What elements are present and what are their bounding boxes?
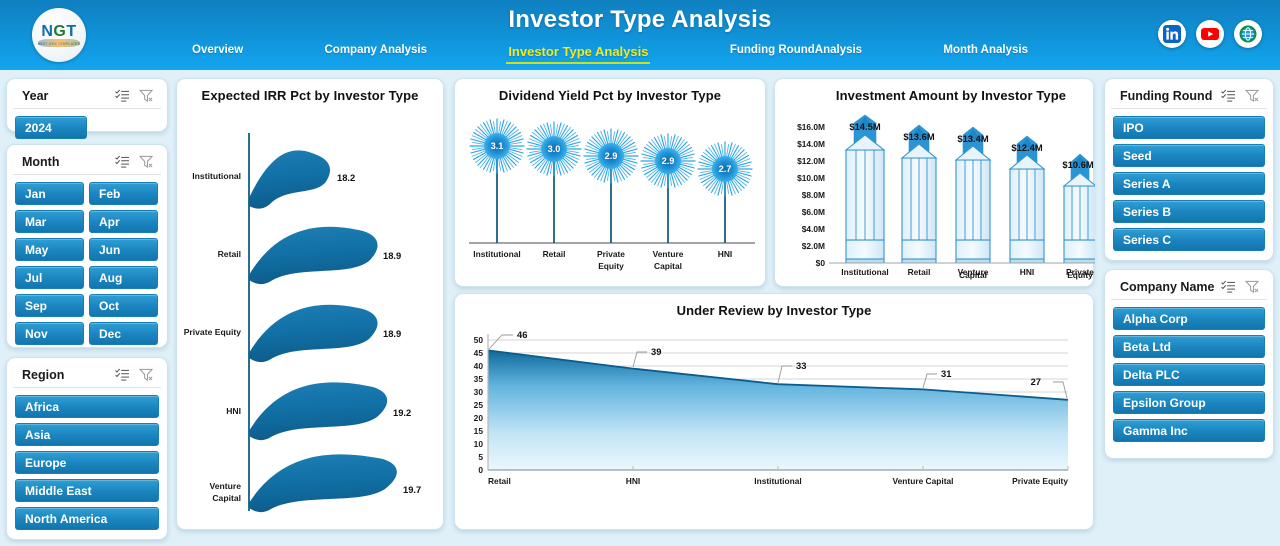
dividend-burst-marker: 3.1 bbox=[470, 119, 524, 173]
irr-value-label: 19.2 bbox=[393, 407, 411, 418]
slicer-item-month-jun[interactable]: Jun bbox=[89, 238, 158, 261]
dividend-burst-marker: 2.7 bbox=[698, 142, 752, 196]
slicer-item-year-2024[interactable]: 2024 bbox=[15, 116, 87, 139]
investment-pencil-bar bbox=[902, 125, 936, 263]
slicer-funding-round: Funding Round IPO Seed Series A Series B… bbox=[1104, 78, 1274, 261]
clear-filter-icon[interactable] bbox=[1245, 280, 1260, 293]
under-review-ytick: 0 bbox=[478, 465, 483, 475]
dashboard-page: NGT NEXT GEN TEMPLATES Investor Type Ana… bbox=[0, 0, 1280, 546]
clear-filter-icon[interactable] bbox=[139, 368, 154, 381]
dividend-cat-label-line2: Equity bbox=[598, 261, 624, 271]
under-review-cat-label: Venture Capital bbox=[893, 476, 954, 486]
investment-ytick: $14.0M bbox=[797, 139, 825, 149]
irr-flag-bar bbox=[249, 150, 330, 208]
chart-expected-irr-plot: Institutional 18.2 Retail 18.9 Private E… bbox=[177, 103, 445, 523]
multi-select-icon[interactable] bbox=[115, 89, 130, 102]
slicer-item-funding-series-a[interactable]: Series A bbox=[1113, 172, 1265, 195]
slicer-item-month-apr[interactable]: Apr bbox=[89, 210, 158, 233]
investment-pencil-bar bbox=[846, 115, 884, 263]
irr-value-label: 18.2 bbox=[337, 172, 355, 183]
slicer-item-company-gamma-inc[interactable]: Gamma Inc bbox=[1113, 419, 1265, 442]
slicer-region-header: Region bbox=[13, 362, 161, 388]
slicer-item-region-middle-east[interactable]: Middle East bbox=[15, 479, 159, 502]
under-review-ytick: 25 bbox=[474, 400, 484, 410]
irr-cat-label: Private Equity bbox=[184, 327, 242, 337]
chart-under-review-plot: 50 45 40 35 30 25 20 15 10 5 0 bbox=[455, 318, 1095, 524]
investment-value-label: $13.4M bbox=[957, 133, 988, 144]
investment-cat-label-line2: Capital bbox=[959, 270, 987, 280]
clear-filter-icon[interactable] bbox=[139, 155, 154, 168]
under-review-cat-label: Private Equity bbox=[1012, 476, 1068, 486]
chart-dividend-yield-title: Dividend Yield Pct by Investor Type bbox=[455, 79, 765, 103]
slicer-item-month-may[interactable]: May bbox=[15, 238, 84, 261]
investment-pencil-bar bbox=[956, 127, 990, 263]
dividend-cat-label: Institutional bbox=[473, 249, 520, 259]
tab-month-analysis[interactable]: Month Analysis bbox=[941, 44, 1030, 56]
slicer-company-name-items: Alpha Corp Beta Ltd Delta PLC Epsilon Gr… bbox=[1105, 300, 1273, 450]
slicer-funding-round-actions bbox=[1221, 89, 1260, 102]
tab-investor-type-analysis[interactable]: Investor Type Analysis bbox=[506, 44, 650, 64]
dividend-value-label: 3.1 bbox=[491, 141, 504, 151]
chart-investment-amount-plot: $16.0M $14.0M $12.0M $10.0M $8.0M $6.0M … bbox=[775, 103, 1095, 281]
youtube-icon bbox=[1200, 24, 1220, 44]
investment-ytick: $0 bbox=[816, 258, 826, 268]
investment-ytick: $8.0M bbox=[802, 190, 825, 200]
investment-cat-label-line2: Equity bbox=[1067, 270, 1093, 280]
slicer-year-items: 2024 bbox=[7, 109, 167, 147]
slicer-item-company-delta-plc[interactable]: Delta PLC bbox=[1113, 363, 1265, 386]
tab-overview[interactable]: Overview bbox=[190, 44, 245, 56]
slicer-item-month-aug[interactable]: Aug bbox=[89, 266, 158, 289]
under-review-ytick: 40 bbox=[474, 361, 484, 371]
under-review-cat-label: Institutional bbox=[754, 476, 801, 486]
investment-ytick: $4.0M bbox=[802, 224, 825, 234]
chart-under-review-title: Under Review by Investor Type bbox=[455, 294, 1093, 318]
chart-dividend-yield-plot: 3.1 3.0 2.9 2.9 2.7 Institutional Retail… bbox=[455, 103, 767, 281]
irr-cat-label: Retail bbox=[218, 249, 241, 259]
page-title: Investor Type Analysis bbox=[0, 6, 1280, 34]
website-button[interactable] bbox=[1234, 20, 1262, 48]
irr-flag-bar bbox=[249, 454, 397, 512]
slicer-item-company-beta-ltd[interactable]: Beta Ltd bbox=[1113, 335, 1265, 358]
slicer-item-funding-series-c[interactable]: Series C bbox=[1113, 228, 1265, 251]
slicer-company-name-title: Company Name bbox=[1120, 280, 1221, 294]
slicer-item-funding-series-b[interactable]: Series B bbox=[1113, 200, 1265, 223]
dividend-cat-label-line2: Capital bbox=[654, 261, 682, 271]
chart-expected-irr: Expected IRR Pct by Investor Type Instit… bbox=[176, 78, 444, 530]
slicer-year: Year 2024 bbox=[6, 78, 168, 132]
irr-value-label: 19.7 bbox=[403, 484, 421, 495]
investment-pencil-bar bbox=[1064, 154, 1095, 263]
slicer-company-name: Company Name Alpha Corp Beta Ltd Delta P… bbox=[1104, 269, 1274, 459]
slicer-month-header: Month bbox=[13, 149, 161, 175]
slicer-year-actions bbox=[115, 89, 154, 102]
slicer-year-header: Year bbox=[13, 83, 161, 109]
investment-ytick: $10.0M bbox=[797, 173, 825, 183]
dividend-cat-label: Retail bbox=[543, 249, 566, 259]
under-review-value-label: 33 bbox=[796, 360, 806, 371]
under-review-cat-label: HNI bbox=[626, 476, 640, 486]
dividend-burst-marker: 2.9 bbox=[641, 134, 695, 188]
investment-pencil-bar bbox=[1010, 136, 1044, 263]
slicer-item-month-nov[interactable]: Nov bbox=[15, 322, 84, 345]
slicer-item-month-dec[interactable]: Dec bbox=[89, 322, 158, 345]
dividend-burst-marker: 2.9 bbox=[584, 129, 638, 183]
slicer-item-region-asia[interactable]: Asia bbox=[15, 423, 159, 446]
slicer-item-month-sep[interactable]: Sep bbox=[15, 294, 84, 317]
tab-funding-round-analysis[interactable]: Funding RoundAnalysis bbox=[728, 44, 864, 56]
multi-select-icon[interactable] bbox=[1221, 89, 1236, 102]
irr-value-label: 18.9 bbox=[383, 250, 401, 261]
dividend-value-label: 2.9 bbox=[662, 156, 675, 166]
slicer-month-actions bbox=[115, 155, 154, 168]
chart-investment-amount-title: Investment Amount by Investor Type bbox=[775, 79, 1093, 103]
slicer-item-month-mar[interactable]: Mar bbox=[15, 210, 84, 233]
slicer-region-items: Africa Asia Europe Middle East North Ame… bbox=[7, 388, 167, 538]
under-review-cat-label: Retail bbox=[488, 476, 511, 486]
investment-ytick: $2.0M bbox=[802, 241, 825, 251]
under-review-ytick: 15 bbox=[474, 426, 484, 436]
irr-value-label: 18.9 bbox=[383, 328, 401, 339]
slicer-item-region-north-america[interactable]: North America bbox=[15, 507, 159, 530]
clear-filter-icon[interactable] bbox=[1245, 89, 1260, 102]
irr-flag-bar bbox=[249, 227, 378, 284]
under-review-value-label: 46 bbox=[517, 329, 527, 340]
slicer-item-month-jan[interactable]: Jan bbox=[15, 182, 84, 205]
slicer-item-month-oct[interactable]: Oct bbox=[89, 294, 158, 317]
slicer-funding-round-items: IPO Seed Series A Series B Series C bbox=[1105, 109, 1273, 259]
irr-cat-label: Institutional bbox=[192, 171, 241, 181]
slicer-company-name-actions bbox=[1221, 280, 1260, 293]
slicer-month: Month Jan Feb Mar Apr May Jun Jul Aug Se… bbox=[6, 144, 168, 348]
under-review-ytick: 30 bbox=[474, 387, 484, 397]
slicer-item-region-europe[interactable]: Europe bbox=[15, 451, 159, 474]
investment-value-label: $12.4M bbox=[1011, 142, 1042, 153]
multi-select-icon[interactable] bbox=[115, 368, 130, 381]
multi-select-icon[interactable] bbox=[115, 155, 130, 168]
linkedin-icon bbox=[1162, 24, 1182, 44]
chart-investment-amount: Investment Amount by Investor Type $16.0… bbox=[774, 78, 1094, 287]
slicer-funding-round-title: Funding Round bbox=[1120, 89, 1221, 103]
slicer-company-name-header: Company Name bbox=[1111, 274, 1267, 300]
logo-swoosh-icon bbox=[38, 39, 80, 47]
social-links bbox=[1158, 20, 1262, 48]
chart-expected-irr-title: Expected IRR Pct by Investor Type bbox=[177, 79, 443, 103]
under-review-ytick: 5 bbox=[478, 452, 483, 462]
slicer-item-month-feb[interactable]: Feb bbox=[89, 182, 158, 205]
slicer-region-actions bbox=[115, 368, 154, 381]
dividend-value-label: 2.9 bbox=[605, 151, 618, 161]
clear-filter-icon[interactable] bbox=[139, 89, 154, 102]
slicer-item-funding-ipo[interactable]: IPO bbox=[1113, 116, 1265, 139]
under-review-value-label: 27 bbox=[1031, 376, 1041, 387]
dividend-cat-label-line1: Venture bbox=[653, 249, 684, 259]
irr-cat-label-line1: Venture bbox=[209, 481, 241, 491]
multi-select-icon[interactable] bbox=[1221, 280, 1236, 293]
dividend-value-label: 3.0 bbox=[548, 144, 561, 154]
investment-value-label: $14.5M bbox=[849, 121, 880, 132]
under-review-ytick: 50 bbox=[474, 335, 484, 345]
slicer-funding-round-header: Funding Round bbox=[1111, 83, 1267, 109]
slicer-region: Region Africa Asia Europe Middle East No… bbox=[6, 357, 168, 540]
slicer-month-items: Jan Feb Mar Apr May Jun Jul Aug Sep Oct … bbox=[7, 175, 167, 353]
chart-under-review: Under Review by Investor Type bbox=[454, 293, 1094, 530]
website-globe-icon bbox=[1238, 24, 1258, 44]
irr-cat-label: HNI bbox=[226, 406, 241, 416]
dividend-cat-label-line1: Private bbox=[597, 249, 625, 259]
under-review-ytick: 35 bbox=[474, 374, 484, 384]
dividend-value-label: 2.7 bbox=[719, 164, 732, 174]
under-review-area bbox=[488, 350, 1068, 470]
investment-ytick: $6.0M bbox=[802, 207, 825, 217]
chart-investment-amount-wrapped-labels: Capital Equity bbox=[775, 268, 1095, 284]
slicer-item-company-alpha-corp[interactable]: Alpha Corp bbox=[1113, 307, 1265, 330]
slicer-year-title: Year bbox=[22, 89, 115, 103]
slicer-region-title: Region bbox=[22, 368, 115, 382]
slicer-item-month-jul[interactable]: Jul bbox=[15, 266, 84, 289]
investment-ytick: $12.0M bbox=[797, 156, 825, 166]
slicer-item-funding-seed[interactable]: Seed bbox=[1113, 144, 1265, 167]
irr-flag-bar bbox=[249, 382, 387, 440]
tab-company-analysis[interactable]: Company Analysis bbox=[323, 44, 429, 56]
dividend-burst-marker: 3.0 bbox=[527, 122, 581, 176]
irr-cat-label-line2: Capital bbox=[212, 493, 241, 503]
under-review-ytick: 10 bbox=[474, 439, 484, 449]
main-nav: Overview Company Analysis Investor Type … bbox=[190, 44, 1030, 68]
irr-flag-bar bbox=[249, 305, 378, 362]
under-review-value-label: 39 bbox=[651, 346, 661, 357]
investment-value-label: $10.6M bbox=[1062, 159, 1093, 170]
slicer-item-company-epsilon-group[interactable]: Epsilon Group bbox=[1113, 391, 1265, 414]
slicer-item-region-africa[interactable]: Africa bbox=[15, 395, 159, 418]
under-review-value-label: 31 bbox=[941, 368, 951, 379]
investment-value-label: $13.6M bbox=[903, 131, 934, 142]
under-review-ytick: 45 bbox=[474, 348, 484, 358]
dashboard-header: NGT NEXT GEN TEMPLATES Investor Type Ana… bbox=[0, 0, 1280, 70]
under-review-ytick: 20 bbox=[474, 413, 484, 423]
investment-ytick: $16.0M bbox=[797, 122, 825, 132]
chart-dividend-yield: Dividend Yield Pct by Investor Type bbox=[454, 78, 766, 287]
slicer-month-title: Month bbox=[22, 155, 115, 169]
dividend-cat-label: HNI bbox=[718, 249, 732, 259]
linkedin-button[interactable] bbox=[1158, 20, 1186, 48]
youtube-button[interactable] bbox=[1196, 20, 1224, 48]
